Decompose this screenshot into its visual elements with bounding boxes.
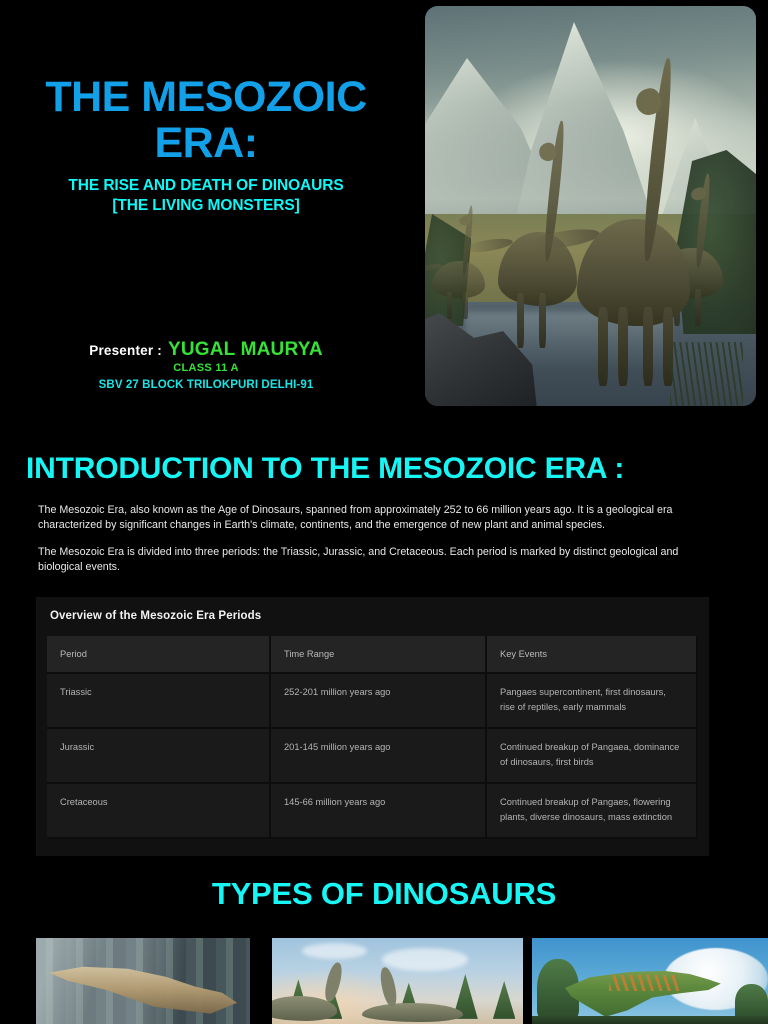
- sauropod-leg: [598, 307, 608, 386]
- cell-key-events: Pangaes supercontinent, first dinosaurs,…: [487, 674, 698, 729]
- table-row: Cretaceous 145-66 million years ago Cont…: [47, 784, 698, 839]
- title-block: THE MESOZOIC ERA: THE RISE AND DEATH OF …: [0, 74, 412, 215]
- cell-key-events: Continued breakup of Pangaes, flowering …: [487, 784, 698, 839]
- hero-section: THE MESOZOIC ERA: THE RISE AND DEATH OF …: [0, 0, 768, 430]
- sauropod-leg: [643, 307, 653, 386]
- sauropod-leg: [618, 307, 628, 386]
- subtitle-line-1: THE RISE AND DEATH OF DINOAURS: [12, 176, 400, 196]
- sauropod-body: [432, 261, 485, 298]
- cell-period: Cretaceous: [47, 784, 271, 839]
- cell-time-range: 201-145 million years ago: [271, 729, 487, 784]
- column-header-time-range: Time Range: [271, 636, 487, 674]
- types-of-dinosaurs-heading: TYPES OF DINOSAURS: [0, 876, 768, 912]
- periods-table-title: Overview of the Mesozoic Era Periods: [36, 597, 709, 622]
- presenter-address: SBV 27 BLOCK TRILOKPURI DELHI-91: [0, 379, 412, 391]
- types-image-strip: [0, 938, 768, 1024]
- introduction-paragraph: The Mesozoic Era, also known as the Age …: [38, 503, 710, 533]
- cloud: [382, 948, 467, 970]
- presenter-block: Presenter : YUGAL MAURYA CLASS 11 A SBV …: [0, 340, 412, 391]
- sauropod-distant: [432, 218, 485, 298]
- cloud: [302, 943, 367, 958]
- sauropod-leg: [539, 293, 546, 347]
- dinosaur-image-hadrosaur-moon: [532, 938, 768, 1024]
- cell-time-range: 252-201 million years ago: [271, 674, 487, 729]
- sauropod-middle: [498, 146, 577, 306]
- table-row: Triassic 252-201 million years ago Panga…: [47, 674, 698, 729]
- sauropod-leg: [463, 292, 468, 319]
- periods-table-card: Overview of the Mesozoic Era Periods Per…: [36, 597, 709, 856]
- cell-period: Triassic: [47, 674, 271, 729]
- presenter-label: Presenter :: [89, 343, 162, 358]
- introduction-paragraph: The Mesozoic Era is divided into three p…: [38, 545, 710, 575]
- cell-period: Jurassic: [47, 729, 271, 784]
- column-header-period: Period: [47, 636, 271, 674]
- cell-time-range: 145-66 million years ago: [271, 784, 487, 839]
- cell-key-events: Continued breakup of Pangaea, dominance …: [487, 729, 698, 784]
- column-header-key-events: Key Events: [487, 636, 698, 674]
- sauropod-leg: [517, 293, 524, 347]
- dinosaur-image-forest-theropod: [36, 938, 250, 1024]
- subtitle: THE RISE AND DEATH OF DINOAURS [THE LIVI…: [0, 176, 412, 215]
- sauropod-body-right: [362, 1003, 462, 1022]
- table-row: Jurassic 201-145 million years ago Conti…: [47, 729, 698, 784]
- presenter-class: CLASS 11 A: [0, 362, 412, 374]
- page-title: THE MESOZOIC ERA:: [0, 74, 412, 166]
- periods-table: Period Time Range Key Events Triassic 25…: [47, 636, 698, 839]
- sauropod-leg: [447, 292, 452, 319]
- presenter-line: Presenter : YUGAL MAURYA: [0, 340, 412, 359]
- table-header-row: Period Time Range Key Events: [47, 636, 698, 674]
- introduction-body: The Mesozoic Era, also known as the Age …: [38, 503, 710, 587]
- sauropod-foreground: [577, 94, 690, 326]
- dinosaur-image-sauropods-conifers: [272, 938, 523, 1024]
- ground-strip: [532, 1016, 768, 1024]
- hero-dinosaur-image: [425, 6, 756, 406]
- subtitle-line-2: [THE LIVING MONSTERS]: [12, 196, 400, 216]
- sauropod-leg: [695, 289, 701, 326]
- presenter-name: YUGAL MAURYA: [168, 339, 323, 360]
- introduction-heading: INTRODUCTION TO THE MESOZOIC ERA :: [26, 452, 746, 486]
- foreground-grass: [670, 342, 743, 406]
